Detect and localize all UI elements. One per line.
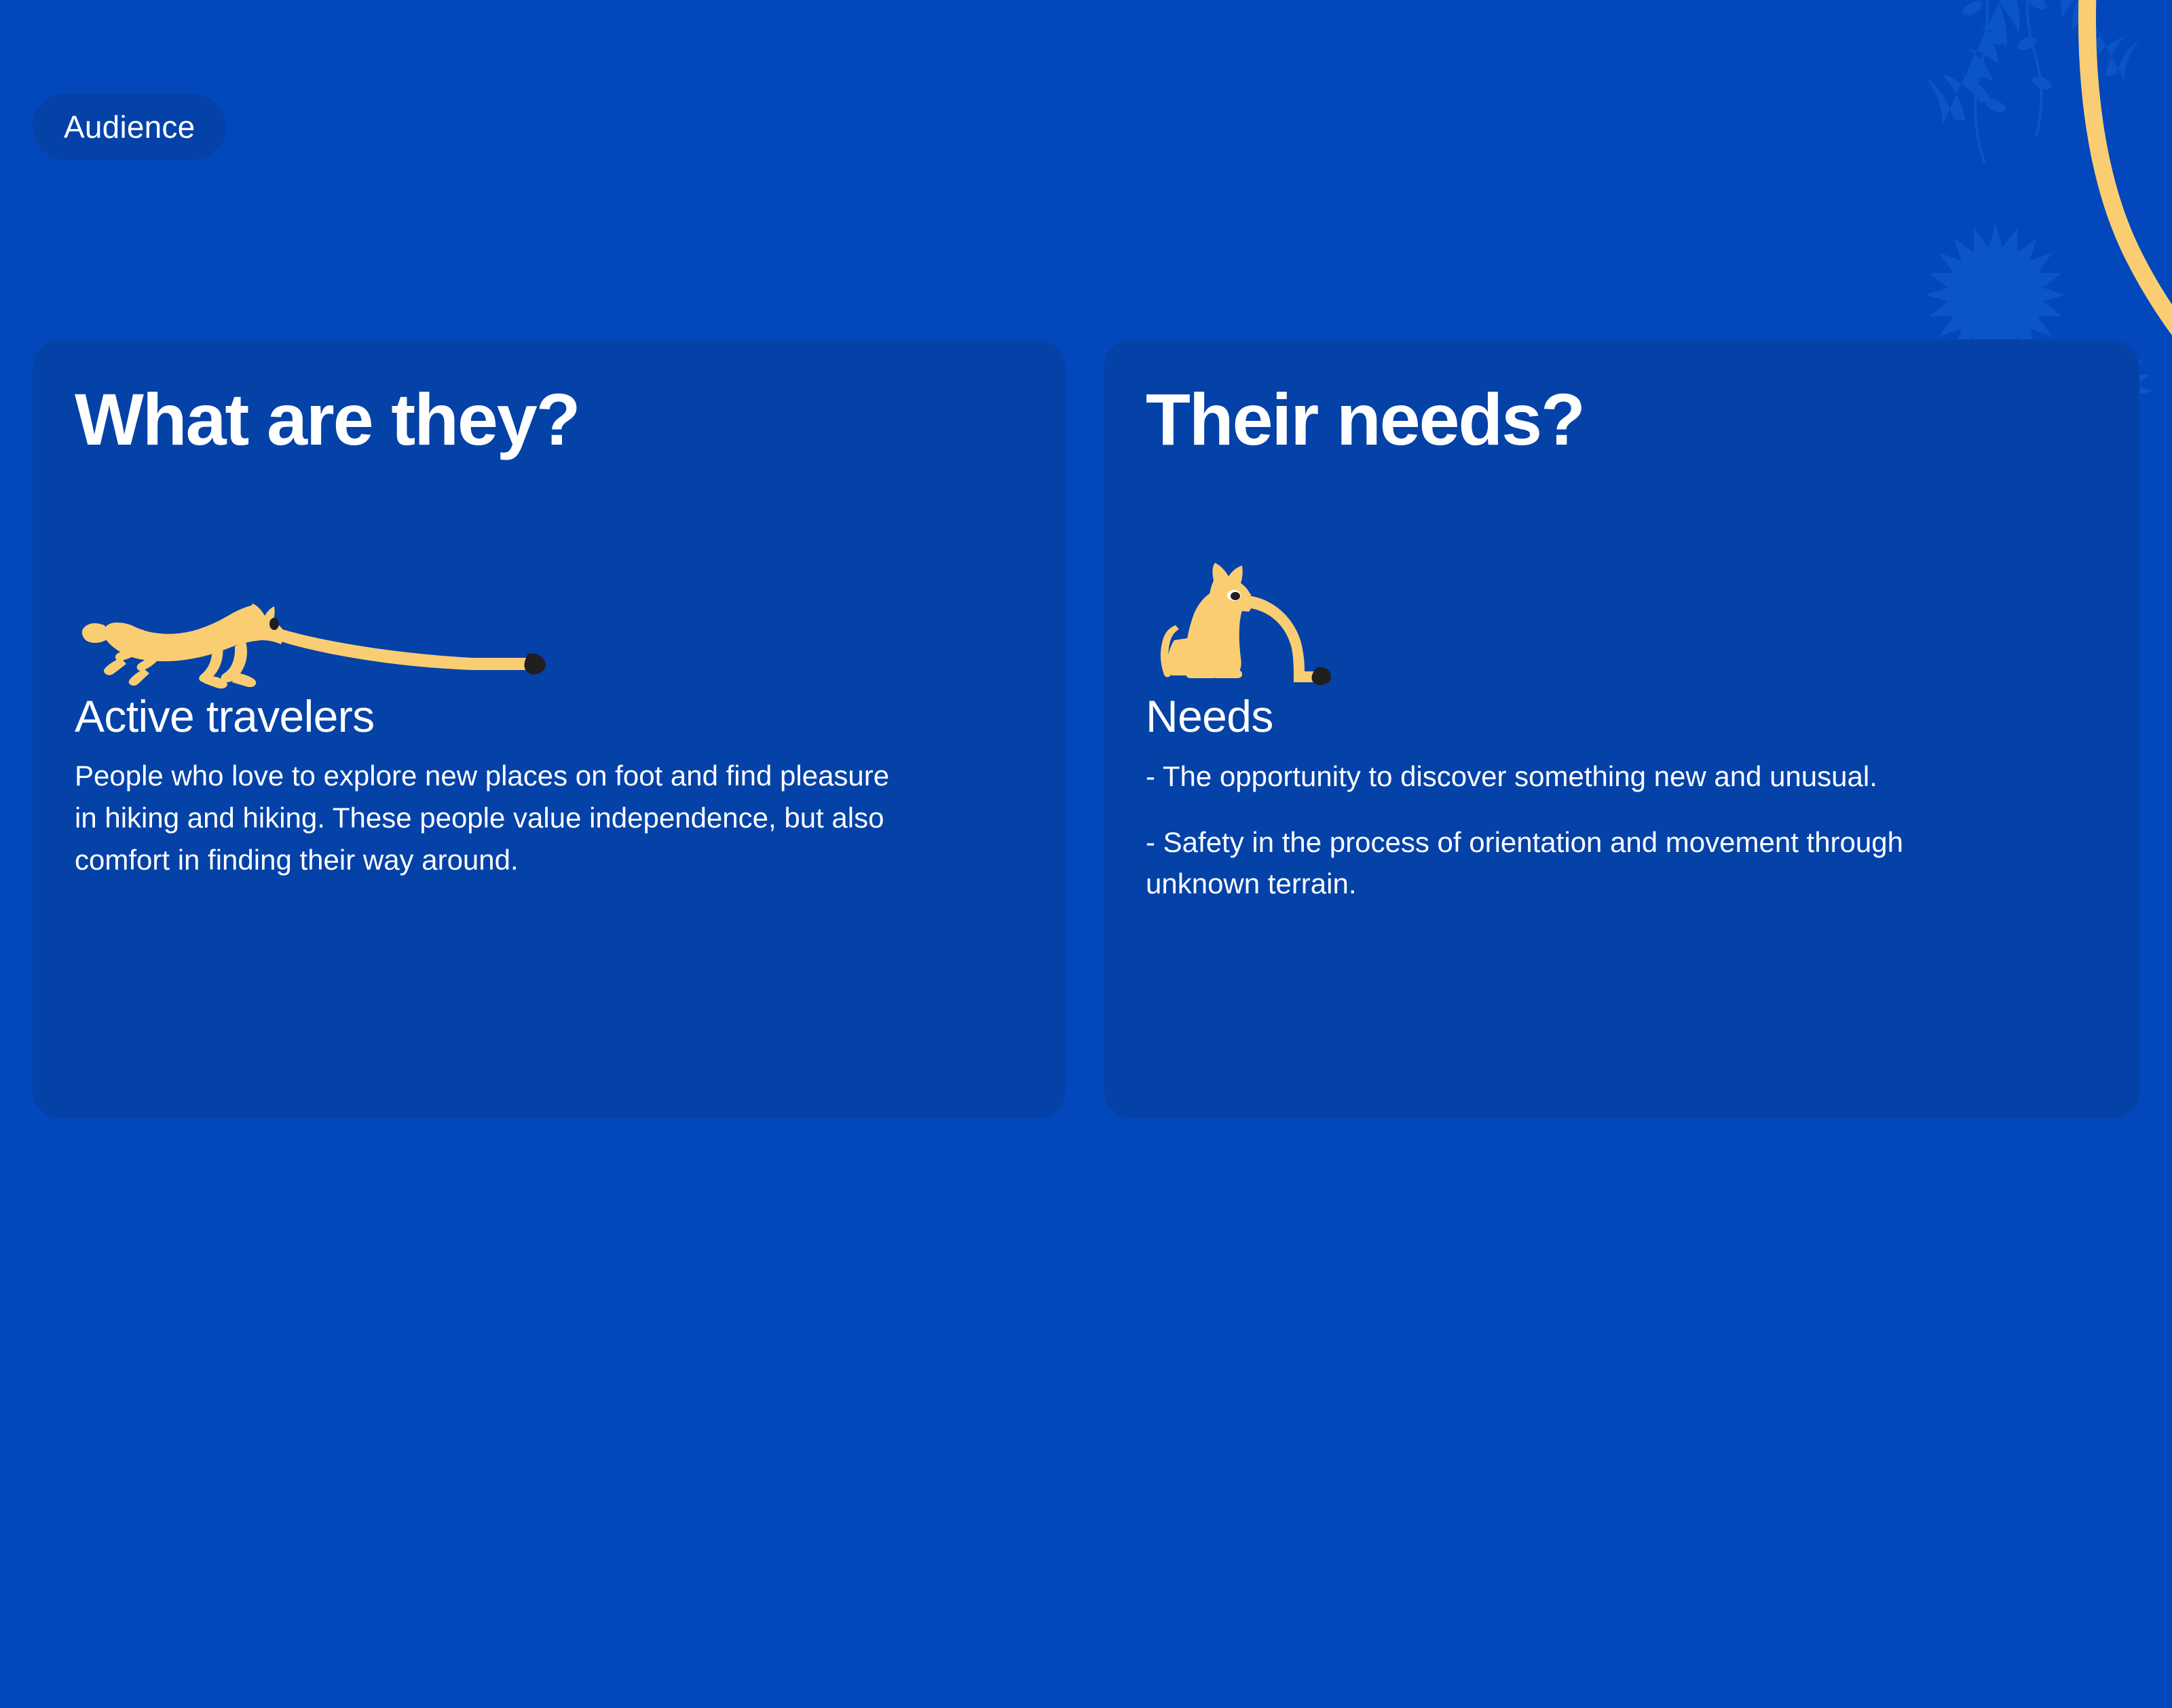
illustration-slot bbox=[75, 561, 1024, 684]
illustration-slot bbox=[1146, 561, 2097, 684]
cat-eye bbox=[1227, 590, 1241, 601]
card-what-are-they: What are they? bbox=[33, 339, 1066, 1119]
dog-nose bbox=[524, 653, 546, 674]
card-subtitle: Needs bbox=[1146, 693, 2097, 740]
decorative-corner-graphic bbox=[1907, 0, 2172, 394]
card-title: What are they? bbox=[75, 380, 1024, 460]
needs-list: - The opportunity to discover something … bbox=[1146, 756, 1953, 905]
cards-row: What are they? bbox=[33, 339, 2139, 1119]
card-their-needs: Their needs? bbox=[1104, 339, 2139, 1119]
cat-nose bbox=[1311, 667, 1331, 685]
card-subtitle: Active travelers bbox=[75, 693, 1024, 740]
sitting-cat-long-snout-icon bbox=[1148, 560, 1372, 689]
card-body-text: People who love to explore new places on… bbox=[75, 755, 896, 881]
dog-eye bbox=[269, 618, 279, 630]
foliage-silhouette bbox=[1925, 0, 2152, 394]
audience-badge-label: Audience bbox=[64, 111, 195, 143]
card-title: Their needs? bbox=[1146, 380, 2097, 460]
yellow-trail-arc bbox=[2087, 0, 2172, 380]
running-dog-long-snout-icon bbox=[79, 602, 554, 690]
list-item: - The opportunity to discover something … bbox=[1146, 756, 1953, 798]
list-item: - Safety in the process of orientation a… bbox=[1146, 822, 1953, 905]
audience-badge[interactable]: Audience bbox=[33, 94, 226, 160]
